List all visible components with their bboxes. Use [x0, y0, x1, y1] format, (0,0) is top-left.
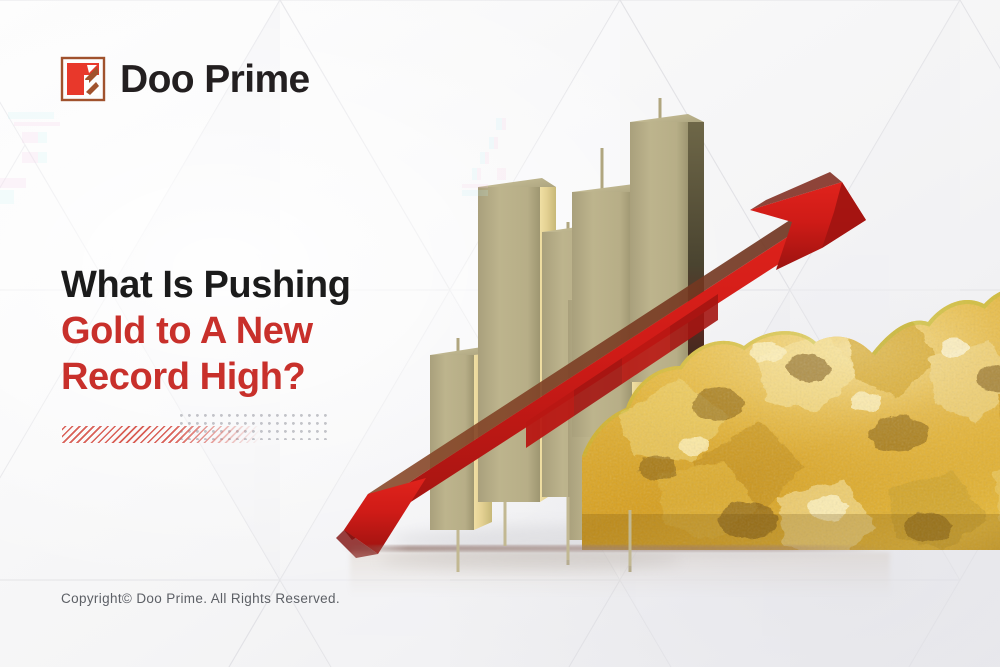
brand-logo[interactable]: Doo Prime: [60, 56, 310, 102]
doo-prime-logo-mark-icon: [60, 56, 106, 102]
copyright-text: Copyright© Doo Prime. All Rights Reserve…: [61, 591, 340, 606]
brand-logo-text: Doo Prime: [120, 60, 310, 99]
floor-reflection: [344, 546, 890, 596]
marketing-banner: Doo Prime What Is Pushing Gold to A New …: [0, 0, 1000, 667]
decorative-divider: [62, 414, 332, 448]
diagonal-hatch-decoration: [62, 426, 262, 443]
hero-artwork: [330, 60, 1000, 620]
